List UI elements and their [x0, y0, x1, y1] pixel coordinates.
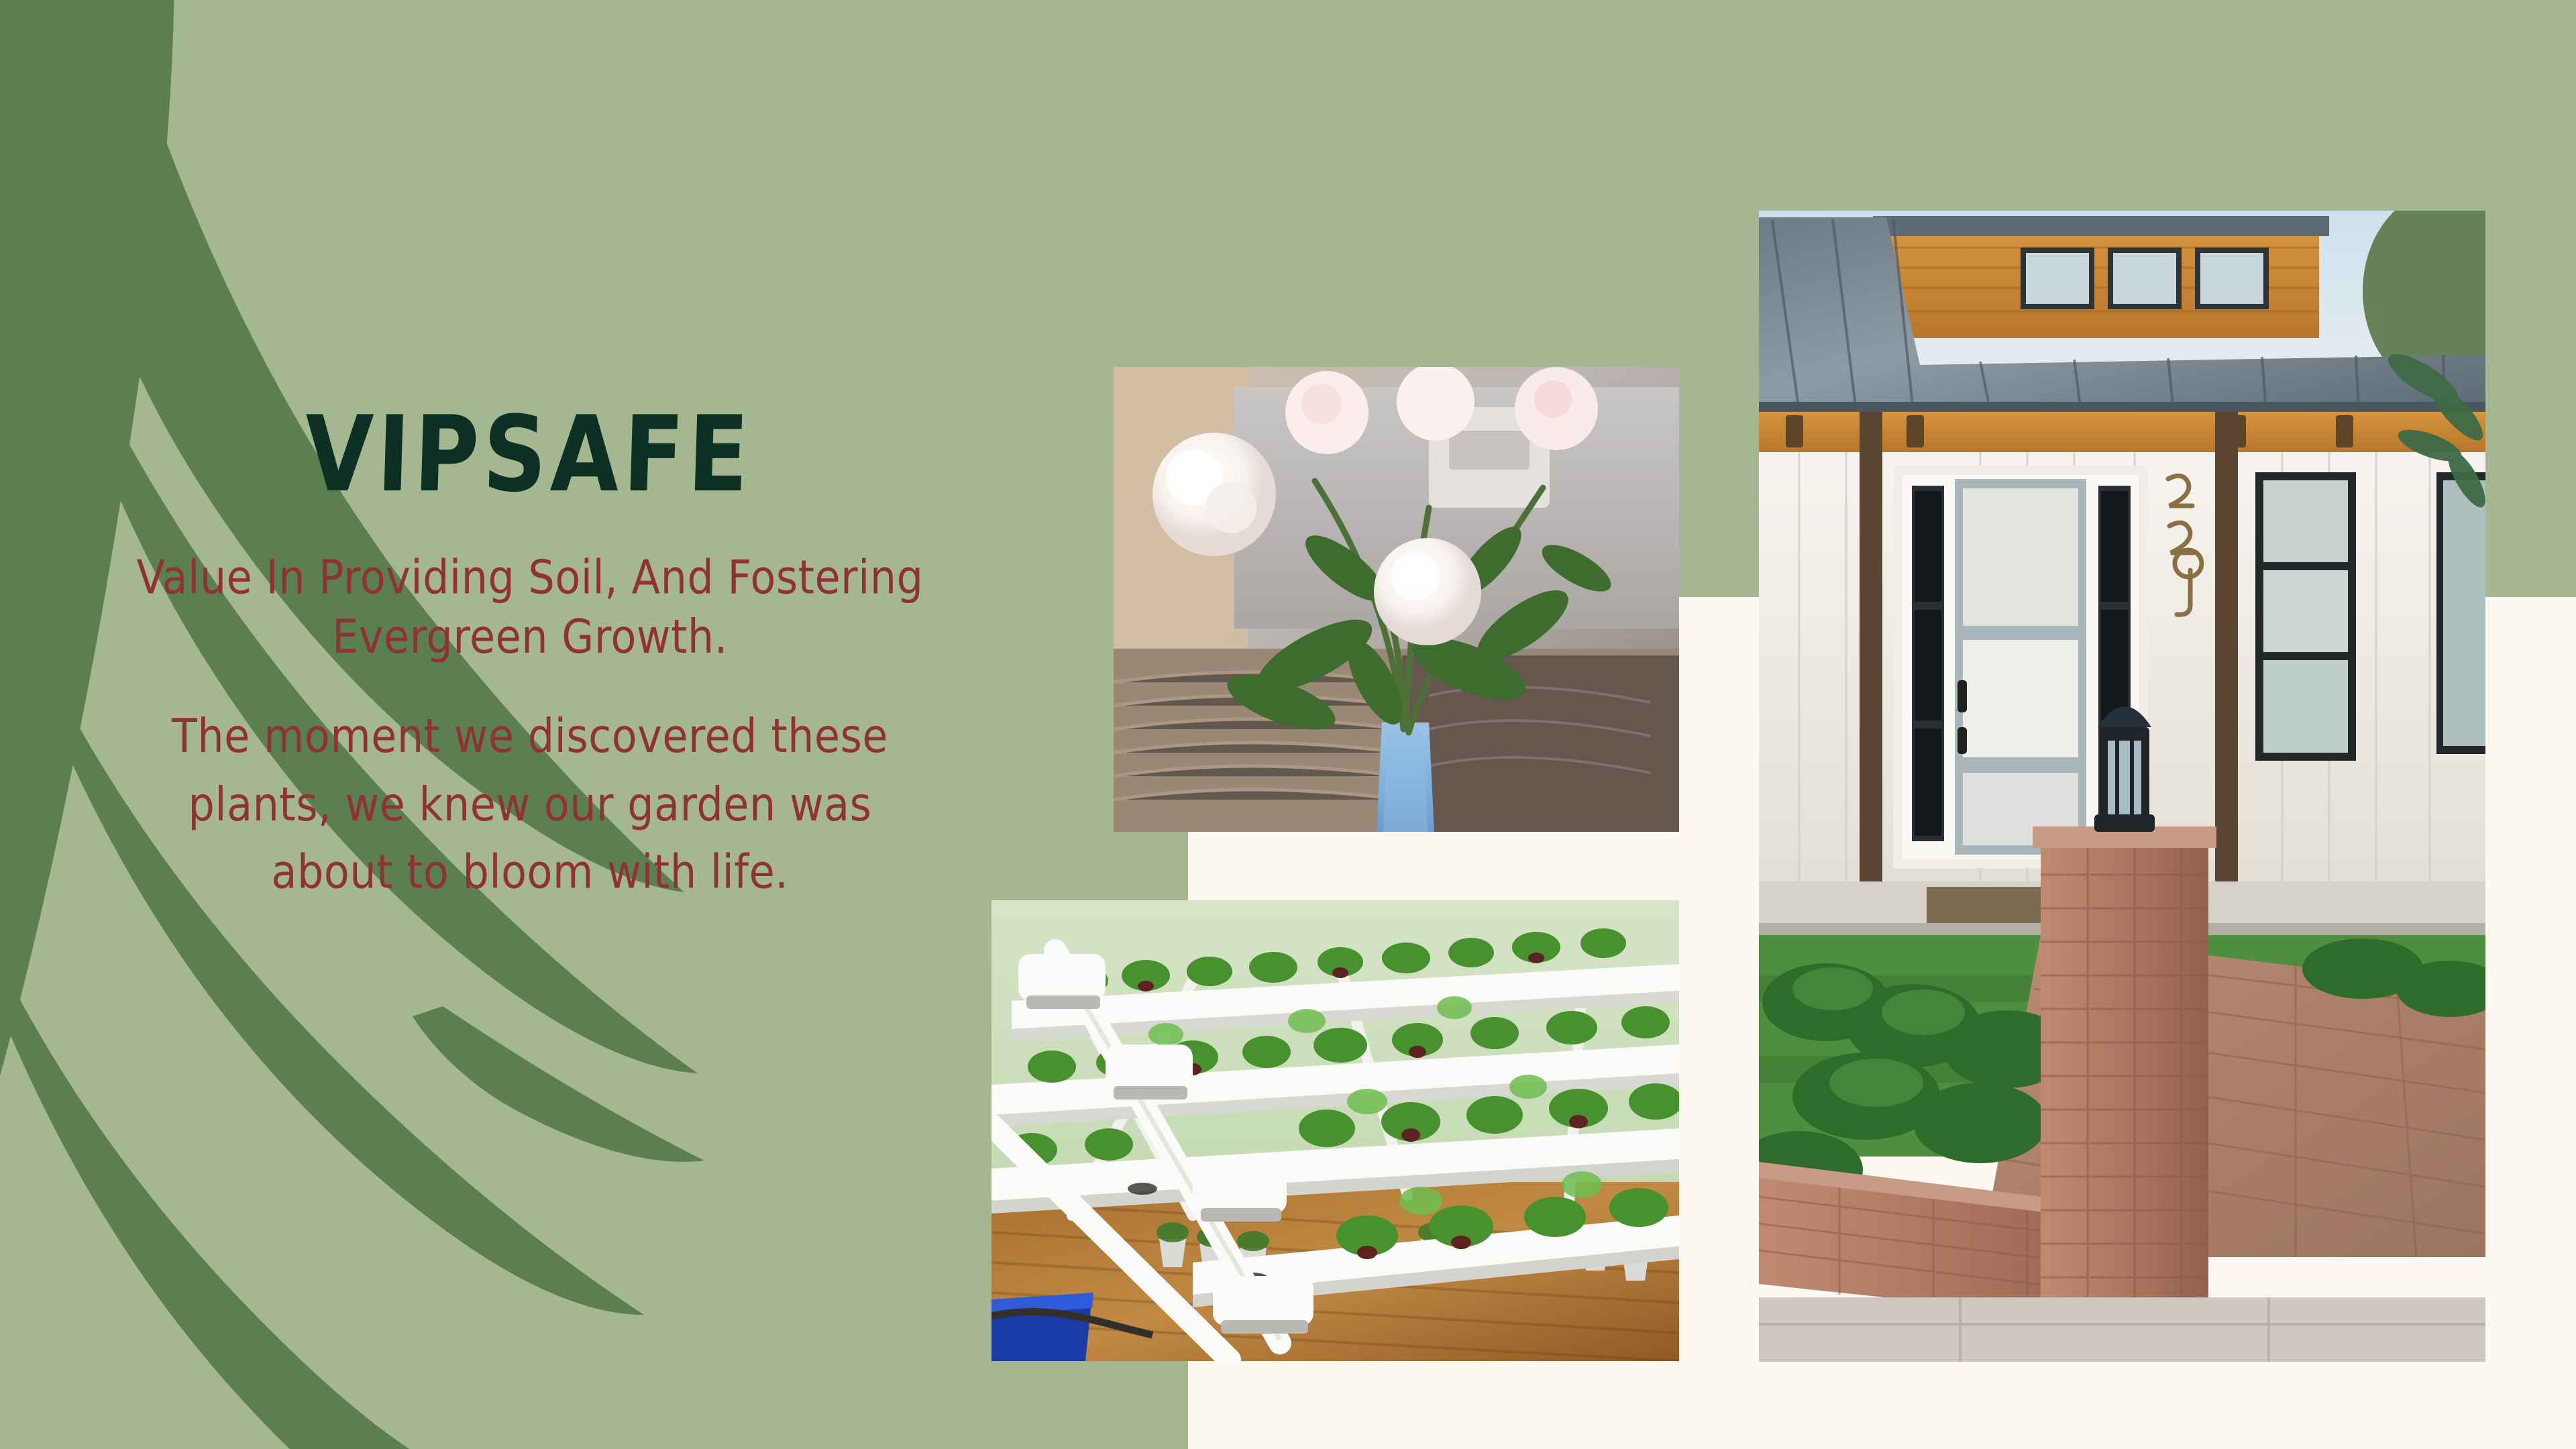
- tagline-text: Value In Providing Soil, And Fostering E…: [134, 547, 926, 667]
- photo-flowers-in-blue-vase: [1114, 367, 1679, 832]
- slide-canvas: VIPSAFE Value In Providing Soil, And Fos…: [0, 0, 2576, 1449]
- page-title: VIPSAFE: [131, 402, 926, 507]
- photo-modern-farmhouse-entrance: [1759, 211, 2485, 1362]
- photo-hydroponic-plant-rack: [991, 900, 1679, 1361]
- text-column: VIPSAFE Value In Providing Soil, And Fos…: [134, 402, 926, 884]
- body-paragraph: The moment we discovered these plants, w…: [134, 702, 926, 906]
